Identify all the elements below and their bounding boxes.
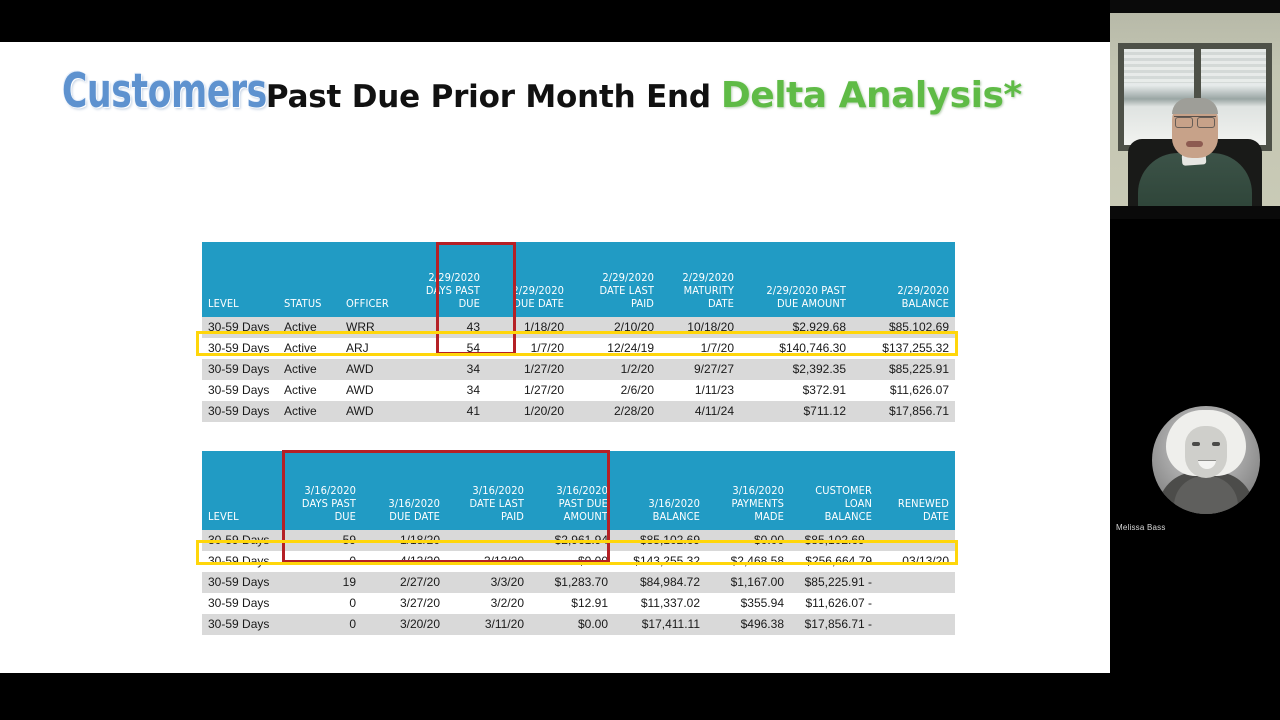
cell-balance: $85,102.69 <box>852 317 955 338</box>
cell-officer: ARJ <box>340 338 406 359</box>
cell-balance: $137,255.32 <box>852 338 955 359</box>
col-header-days-past-due[interactable]: 2/29/2020 DAYS PAST DUE <box>406 242 486 317</box>
shared-screen-area: CustomersPast Due Prior Month EndDelta A… <box>0 0 1110 720</box>
cell-status: Active <box>278 338 340 359</box>
cell-level: 30-59 Days <box>202 338 278 359</box>
cell-renewed-date <box>878 593 955 614</box>
table-past-due-current: LEVEL 3/16/2020 DAYS PAST DUE 3/16/2020 … <box>202 451 955 635</box>
cell-days-past-due: 41 <box>406 401 486 422</box>
cell-status: Active <box>278 380 340 401</box>
col-header-level[interactable]: LEVEL <box>202 242 278 317</box>
col-header-past-due-amount[interactable]: 2/29/2020 PAST DUE AMOUNT <box>740 242 852 317</box>
participant-name-label: Melissa Bass <box>1116 523 1166 532</box>
cell-due-date: 1/20/20 <box>486 401 570 422</box>
col-header-renewed-date[interactable]: RENEWED DATE <box>878 451 955 530</box>
cell-maturity-date: 9/27/27 <box>660 359 740 380</box>
table-row[interactable]: 30-59 Days Active AWD 41 1/20/20 2/28/20… <box>202 401 955 422</box>
cell-date-last-paid: - <box>446 530 530 551</box>
cell-days-past-due: 0 <box>282 614 362 635</box>
cell-past-due-amount: $140,746.30 <box>740 338 852 359</box>
table-row[interactable]: 30-59 Days Active WRR 43 1/18/20 2/10/20… <box>202 317 955 338</box>
table-header-row: LEVEL STATUS OFFICER 2/29/2020 DAYS PAST… <box>202 242 955 317</box>
table-row[interactable]: 30-59 Days Active AWD 34 1/27/20 1/2/20 … <box>202 359 955 380</box>
cell-date-last-paid: 12/24/19 <box>570 338 660 359</box>
avatar <box>1152 406 1260 514</box>
slide-title-delta-analysis: Delta Analysis* <box>721 78 1022 114</box>
webcam-video-feed <box>1110 13 1280 206</box>
cell-balance: $11,337.02 <box>614 593 706 614</box>
col-header-balance[interactable]: 3/16/2020 BALANCE <box>614 451 706 530</box>
cell-level: 30-59 Days <box>202 530 282 551</box>
cell-days-past-due: 59 <box>282 530 362 551</box>
cell-date-last-paid: 2/28/20 <box>570 401 660 422</box>
cell-customer-loan-balance: $85,225.91 - <box>790 572 878 593</box>
cell-days-past-due: 43 <box>406 317 486 338</box>
col-header-balance[interactable]: 2/29/2020 BALANCE <box>852 242 955 317</box>
cell-past-due-amount: $0.00 <box>530 614 614 635</box>
cell-level: 30-59 Days <box>202 401 278 422</box>
cell-balance: $17,411.11 <box>614 614 706 635</box>
cell-officer: AWD <box>340 359 406 380</box>
table-row[interactable]: 30-59 Days Active ARJ 54 1/7/20 12/24/19… <box>202 338 955 359</box>
cell-days-past-due: 0 <box>282 551 362 572</box>
participant-tile-melissa-bass[interactable]: Melissa Bass <box>1110 396 1280 572</box>
col-header-customer-loan-balance[interactable]: CUSTOMER LOAN BALANCE <box>790 451 878 530</box>
table-row[interactable]: 30-59 Days 19 2/27/20 3/3/20 $1,283.70 $… <box>202 572 955 593</box>
cell-due-date: 1/27/20 <box>486 380 570 401</box>
col-header-maturity-date[interactable]: 2/29/2020 MATURITY DATE <box>660 242 740 317</box>
cell-balance: $85,102.69 <box>614 530 706 551</box>
cell-date-last-paid: 1/2/20 <box>570 359 660 380</box>
cell-due-date: 1/18/20 <box>486 317 570 338</box>
cell-maturity-date: 10/18/20 <box>660 317 740 338</box>
cell-customer-loan-balance: $11,626.07 - <box>790 593 878 614</box>
slide-title-subject: Past Due Prior Month End <box>266 82 711 113</box>
cell-past-due-amount: $2,961.94 <box>530 530 614 551</box>
cell-balance: $85,225.91 <box>852 359 955 380</box>
cell-due-date: 4/13/20 <box>362 551 446 572</box>
cell-officer: AWD <box>340 401 406 422</box>
cell-date-last-paid: 3/3/20 <box>446 572 530 593</box>
col-header-level[interactable]: LEVEL <box>202 451 282 530</box>
cell-level: 30-59 Days <box>202 359 278 380</box>
cell-days-past-due: 34 <box>406 359 486 380</box>
cell-payments-made: $496.38 <box>706 614 790 635</box>
cell-past-due-amount: $0.00 <box>530 551 614 572</box>
cell-past-due-amount: $372.91 <box>740 380 852 401</box>
person-glasses <box>1174 116 1216 125</box>
cell-due-date: 2/27/20 <box>362 572 446 593</box>
participant-tile-active-speaker[interactable] <box>1110 0 1280 219</box>
cell-payments-made: $2,468.58 <box>706 551 790 572</box>
cell-past-due-amount: $2,392.35 <box>740 359 852 380</box>
table-header-row: LEVEL 3/16/2020 DAYS PAST DUE 3/16/2020 … <box>202 451 955 530</box>
cell-past-due-amount: $2,929.68 <box>740 317 852 338</box>
cell-level: 30-59 Days <box>202 317 278 338</box>
cell-level: 30-59 Days <box>202 380 278 401</box>
cell-officer: WRR <box>340 317 406 338</box>
col-header-status[interactable]: STATUS <box>278 242 340 317</box>
col-header-date-last-paid[interactable]: 2/29/2020 DATE LAST PAID <box>570 242 660 317</box>
cell-customer-loan-balance: $17,856.71 - <box>790 614 878 635</box>
col-header-payments-made[interactable]: 3/16/2020 PAYMENTS MADE <box>706 451 790 530</box>
cell-balance: $84,984.72 <box>614 572 706 593</box>
col-header-due-date[interactable]: 2/29/2020 DUE DATE <box>486 242 570 317</box>
cell-date-last-paid: 2/10/20 <box>570 317 660 338</box>
cell-renewed-date <box>878 614 955 635</box>
cell-date-last-paid: 2/6/20 <box>570 380 660 401</box>
cell-payments-made: $355.94 <box>706 593 790 614</box>
cell-date-last-paid: 3/2/20 <box>446 593 530 614</box>
cell-past-due-amount: $1,283.70 <box>530 572 614 593</box>
cell-date-last-paid: 3/11/20 <box>446 614 530 635</box>
cell-due-date: 3/20/20 <box>362 614 446 635</box>
cell-balance: $143,255.32 <box>614 551 706 572</box>
cell-maturity-date: 1/11/23 <box>660 380 740 401</box>
cell-renewed-date <box>878 530 955 551</box>
cell-balance: $17,856.71 <box>852 401 955 422</box>
table-row[interactable]: 30-59 Days 59 1/18/20 - $2,961.94 $85,10… <box>202 530 955 551</box>
table-row[interactable]: 30-59 Days 0 3/20/20 3/11/20 $0.00 $17,4… <box>202 614 955 635</box>
cell-due-date: 3/27/20 <box>362 593 446 614</box>
cell-level: 30-59 Days <box>202 572 282 593</box>
person-mouth <box>1186 141 1203 147</box>
cell-maturity-date: 1/7/20 <box>660 338 740 359</box>
cell-customer-loan-balance: $85,102.69 - <box>790 530 878 551</box>
cell-past-due-amount: $12.91 <box>530 593 614 614</box>
person-hair <box>1172 98 1218 114</box>
slide-title: CustomersPast Due Prior Month EndDelta A… <box>62 68 1022 115</box>
participant-video-rail: Melissa Bass <box>1110 0 1280 720</box>
avatar-eye-right <box>1212 442 1220 446</box>
avatar-face <box>1185 426 1227 478</box>
cell-date-last-paid: 3/13/20 <box>446 551 530 572</box>
cell-officer: AWD <box>340 380 406 401</box>
cell-level: 30-59 Days <box>202 593 282 614</box>
cell-status: Active <box>278 317 340 338</box>
cell-days-past-due: 34 <box>406 380 486 401</box>
cell-renewed-date <box>878 572 955 593</box>
cell-status: Active <box>278 401 340 422</box>
cell-days-past-due: 0 <box>282 593 362 614</box>
cell-payments-made: $0.00 <box>706 530 790 551</box>
presentation-slide: CustomersPast Due Prior Month EndDelta A… <box>0 42 1110 673</box>
cell-level: 30-59 Days <box>202 551 282 572</box>
col-header-days-past-due[interactable]: 3/16/2020 DAYS PAST DUE <box>282 451 362 530</box>
cell-level: 30-59 Days <box>202 614 282 635</box>
cell-payments-made: $1,167.00 <box>706 572 790 593</box>
cell-maturity-date: 4/11/24 <box>660 401 740 422</box>
cell-due-date: 1/27/20 <box>486 359 570 380</box>
cell-days-past-due: 54 <box>406 338 486 359</box>
avatar-eye-left <box>1192 442 1200 446</box>
col-header-due-date[interactable]: 3/16/2020 DUE DATE <box>362 451 446 530</box>
col-header-officer[interactable]: OFFICER <box>340 242 406 317</box>
cell-days-past-due: 19 <box>282 572 362 593</box>
cell-due-date: 1/7/20 <box>486 338 570 359</box>
cell-balance: $11,626.07 <box>852 380 955 401</box>
table-row[interactable]: 30-59 Days 0 3/27/20 3/2/20 $12.91 $11,3… <box>202 593 955 614</box>
cell-due-date: 1/18/20 <box>362 530 446 551</box>
table-past-due-prior-month: LEVEL STATUS OFFICER 2/29/2020 DAYS PAST… <box>202 242 955 422</box>
col-header-past-due-amount[interactable]: 3/16/2020 PAST DUE AMOUNT <box>530 451 614 530</box>
col-header-date-last-paid[interactable]: 3/16/2020 DATE LAST PAID <box>446 451 530 530</box>
cell-status: Active <box>278 359 340 380</box>
table-row[interactable]: 30-59 Days Active AWD 34 1/27/20 2/6/20 … <box>202 380 955 401</box>
cell-customer-loan-balance: $256,664.79 <box>790 551 878 572</box>
cell-past-due-amount: $711.12 <box>740 401 852 422</box>
table-row[interactable]: 30-59 Days 0 4/13/20 3/13/20 $0.00 $143,… <box>202 551 955 572</box>
slide-title-customers: Customers <box>62 68 267 115</box>
meeting-screen-share-view: CustomersPast Due Prior Month EndDelta A… <box>0 0 1280 720</box>
cell-renewed-date: 03/13/20 <box>878 551 955 572</box>
